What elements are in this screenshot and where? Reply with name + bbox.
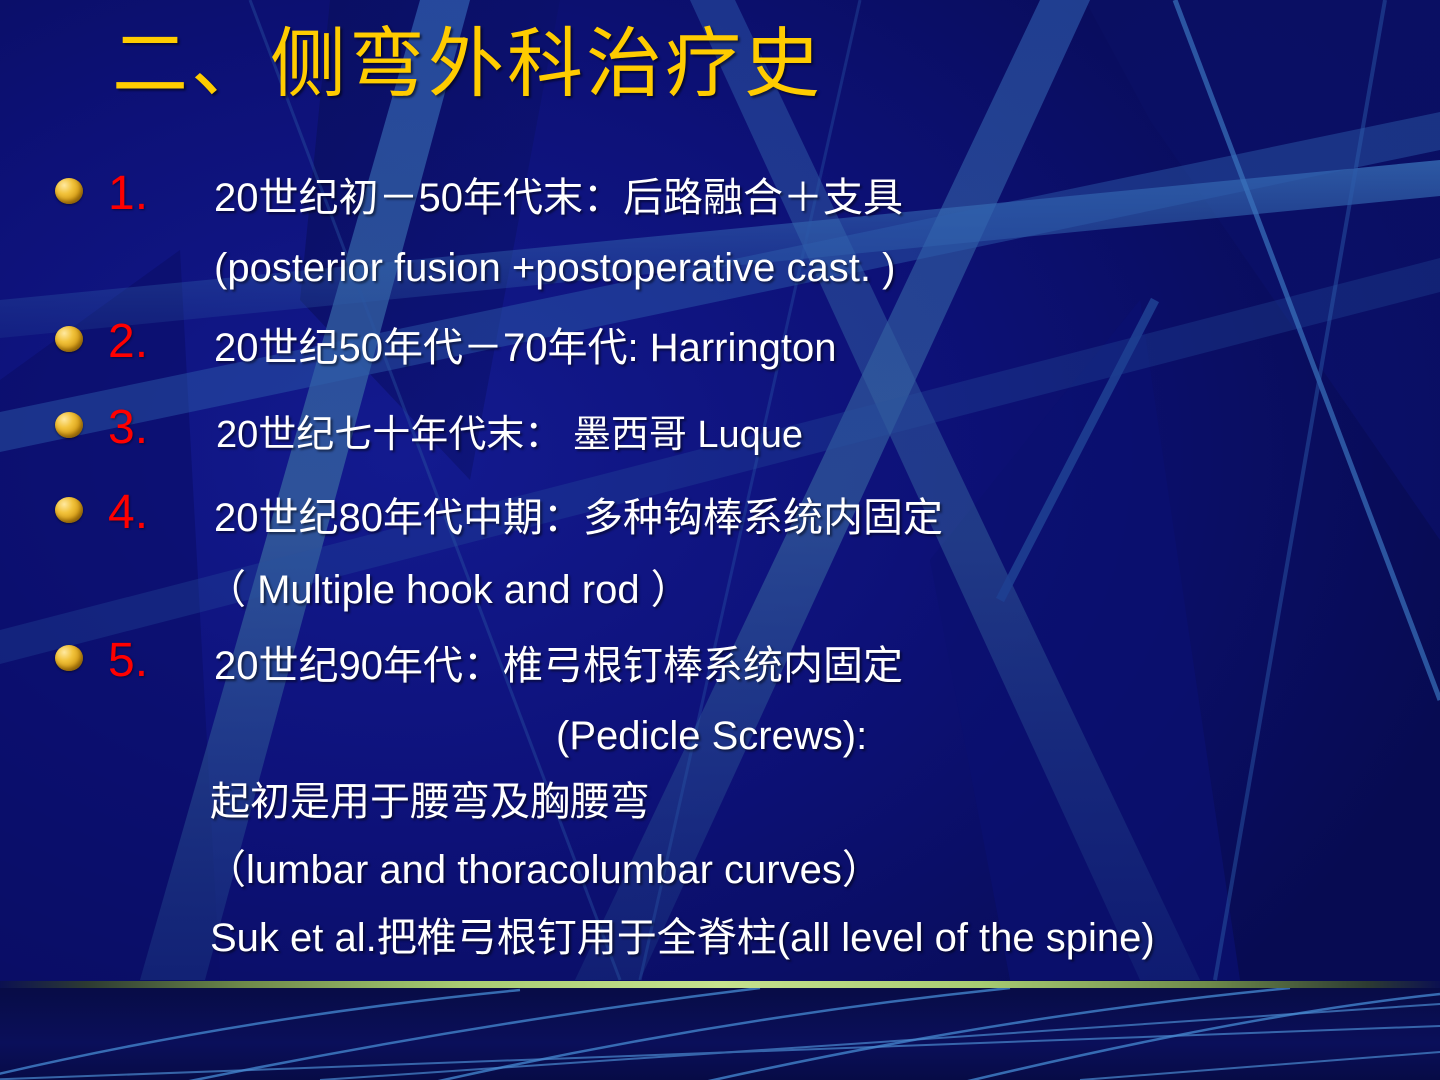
gold-sphere-bullet-icon	[55, 645, 83, 671]
gold-sphere-bullet-icon	[55, 178, 83, 204]
item-3-line-1: 20世纪七十年代末： 墨西哥 Luque	[216, 416, 803, 454]
item-5-line-4: （lumbar and thoracolumbar curves）	[206, 850, 882, 890]
item-5-line-2: (Pedicle Screws):	[556, 716, 867, 756]
item-2-line-1: 20世纪50年代－70年代: Harrington	[214, 328, 836, 368]
gold-sphere-bullet-icon	[55, 326, 83, 352]
item-number-2: 2.	[108, 318, 148, 366]
item-5-line-1: 20世纪90年代：椎弓根钉棒系统内固定	[214, 646, 903, 686]
presentation-slide: 二、侧弯外科治疗史 1. 20世纪初－50年代末：后路融合＋支具 (poster…	[0, 0, 1440, 1080]
item-1-line-2: (posterior fusion +postoperative cast. )	[214, 248, 895, 288]
item-1-line-1: 20世纪初－50年代末：后路融合＋支具	[214, 178, 903, 218]
item-number-1: 1.	[108, 170, 148, 218]
item-number-5: 5.	[108, 637, 148, 685]
item-5-line-3: 起初是用于腰弯及胸腰弯	[210, 782, 650, 822]
gold-sphere-bullet-icon	[55, 412, 83, 438]
item-number-3: 3.	[108, 404, 148, 452]
item-4-line-2: （ Multiple hook and rod ）	[206, 570, 691, 610]
item-4-line-1: 20世纪80年代中期：多种钩棒系统内固定	[214, 498, 943, 538]
slide-title: 二、侧弯外科治疗史	[112, 26, 823, 106]
item-5-line-5: Suk et al.把椎弓根钉用于全脊柱(all level of the sp…	[210, 918, 1155, 958]
item-number-4: 4.	[108, 489, 148, 537]
gold-sphere-bullet-icon	[55, 497, 83, 523]
